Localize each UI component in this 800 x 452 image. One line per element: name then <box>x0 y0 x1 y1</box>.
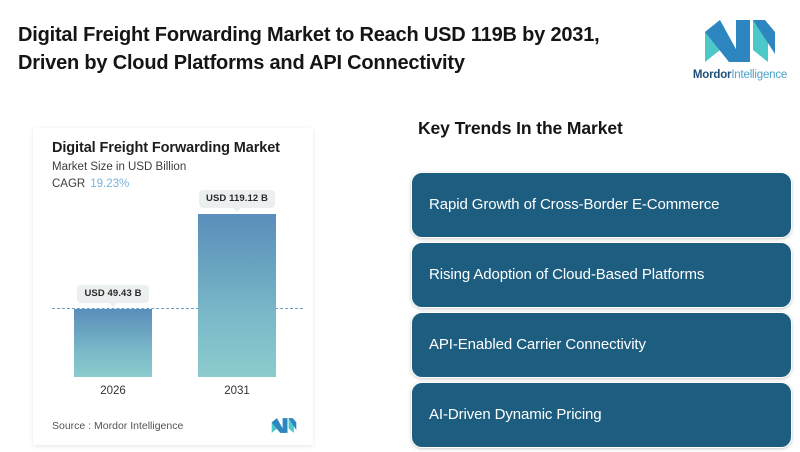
bar-2031 <box>198 214 276 377</box>
trend-card-label: Rapid Growth of Cross-Border E-Commerce <box>429 196 719 215</box>
trends-heading: Key Trends In the Market <box>418 118 623 139</box>
trend-card[interactable]: API-Enabled Carrier Connectivity <box>411 312 792 378</box>
x-axis-label-2026: 2026 <box>100 385 126 397</box>
mordor-mark-icon <box>271 417 297 434</box>
trend-card[interactable]: Rising Adoption of Cloud-Based Platforms <box>411 242 792 308</box>
trend-card-label: Rising Adoption of Cloud-Based Platforms <box>429 266 704 285</box>
cagr-value: 19.23% <box>90 178 129 190</box>
page-title: Digital Freight Forwarding Market to Rea… <box>18 22 658 77</box>
brand-wordmark: MordorIntelligence <box>693 69 787 81</box>
trend-card[interactable]: AI-Driven Dynamic Pricing <box>411 382 792 448</box>
chart-title: Digital Freight Forwarding Market <box>52 140 280 156</box>
bar-2026 <box>74 309 152 377</box>
trend-card-list: Rapid Growth of Cross-Border E-CommerceR… <box>411 172 792 452</box>
bar-value-label: USD 119.12 B <box>199 190 275 208</box>
trend-card[interactable]: Rapid Growth of Cross-Border E-Commerce <box>411 172 792 238</box>
brand-name-primary: Mordor <box>693 69 731 81</box>
bar-chart-plot-area: USD 49.43 B 2026 USD 119.12 B 2031 <box>52 200 303 398</box>
chart-cagr: CAGR19.23% <box>52 178 129 190</box>
brand-name-secondary: Intelligence <box>731 69 787 81</box>
cagr-label: CAGR <box>52 178 85 190</box>
x-axis-label-2031: 2031 <box>224 385 250 397</box>
mordor-intelligence-logo-icon <box>703 18 777 64</box>
trend-card-label: API-Enabled Carrier Connectivity <box>429 336 646 355</box>
bar-value-label: USD 49.43 B <box>77 285 148 303</box>
chart-subtitle: Market Size in USD Billion <box>52 161 186 173</box>
brand-logo: MordorIntelligence <box>686 6 794 92</box>
chart-card: Digital Freight Forwarding Market Market… <box>33 128 313 445</box>
chart-source-text: Source : Mordor Intelligence <box>52 420 183 432</box>
trend-card-label: AI-Driven Dynamic Pricing <box>429 406 602 425</box>
bar-group-2031: USD 119.12 B 2031 <box>198 214 276 377</box>
bar-group-2026: USD 49.43 B 2026 <box>74 309 152 377</box>
